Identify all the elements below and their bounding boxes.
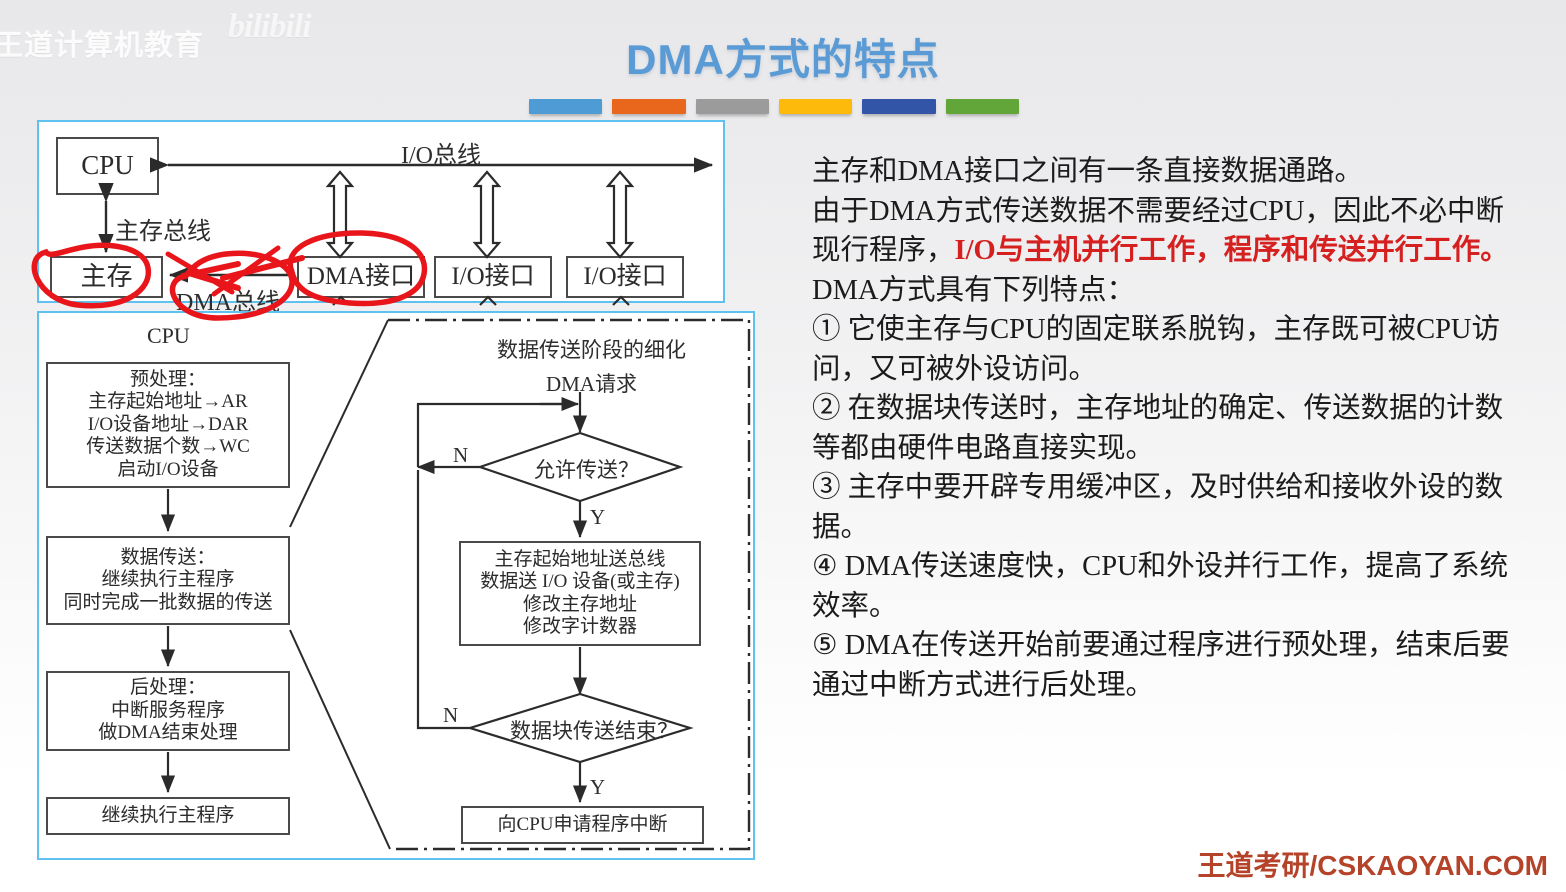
flow-box-preprocess-line4: 传送数据个数→WC <box>86 436 250 458</box>
detail-box-interrupt-label: 向CPU申请程序中断 <box>498 814 668 836</box>
colorbar-segment-5 <box>862 99 935 114</box>
flow-box-preprocess: 预处理： 主存起始地址→AR I/O设备地址→DAR 传送数据个数→WC 启动I… <box>46 362 290 488</box>
flow-box-transfer-line3: 同时完成一批数据的传送 <box>63 592 272 614</box>
flow-box-transfer: 数据传送： 继续执行主程序 同时完成一批数据的传送 <box>46 536 290 625</box>
box-io-interface-1-label: I/O接口 <box>451 262 534 292</box>
flow-box-postprocess-line2: 中断服务程序 <box>111 700 225 722</box>
label-decision2-text: 数据块传送结束？ <box>510 715 678 745</box>
box-io-interface-2-label: I/O接口 <box>583 262 666 292</box>
label-io-bus: I/O总线 <box>401 135 481 170</box>
detail-box-process-line1: 主存起始地址送总线 <box>494 549 665 571</box>
colorbar-segment-6 <box>946 99 1019 114</box>
paragraph-2: 由于DMA方式传送数据不需要经过CPU，因此不必中断现行程序，I/O与主机并行工… <box>812 192 1518 271</box>
list-item-5: ⑤ DMA在传送开始前要通过程序进行预处理，结束后要通过中断方式进行后处理。 <box>812 626 1518 705</box>
list-item-1: ① 它使主存与CPU的固定联系脱钩，主存既可被CPU访问，又可被外设访问。 <box>812 310 1518 389</box>
flow-box-preprocess-line3: I/O设备地址→DAR <box>88 414 248 436</box>
label-decision1-yes: Y <box>590 505 605 530</box>
flow-box-transfer-line1: 数据传送： <box>120 547 215 569</box>
box-main-memory: 主存 <box>50 256 163 298</box>
flow-box-preprocess-line2: 主存起始地址→AR <box>88 391 247 413</box>
flow-box-preprocess-line5: 启动I/O设备 <box>117 459 218 481</box>
colorbar-segment-3 <box>696 99 769 114</box>
paragraph-1: 主存和DMA接口之间有一条直接数据通路。 <box>812 152 1518 192</box>
box-main-memory-label: 主存 <box>80 262 132 293</box>
label-decision1-no: N <box>453 443 468 468</box>
flow-box-continue-main-label: 继续执行主程序 <box>101 805 234 827</box>
flow-box-continue-main: 继续执行主程序 <box>46 797 290 835</box>
label-memory-bus: 主存总线 <box>115 211 211 246</box>
label-decision2-yes: Y <box>590 775 605 800</box>
label-flow-cpu: CPU <box>147 323 190 349</box>
list-item-2: ② 在数据块传送时，主存地址的确定、传送数据的计数等都由硬件电路直接实现。 <box>812 389 1518 468</box>
detail-box-process-line3: 修改主存地址 <box>523 594 637 616</box>
paragraph-2-highlight: I/O与主机并行工作，程序和传送并行工作 <box>955 235 1481 266</box>
flow-box-preprocess-line1: 预处理： <box>130 369 206 391</box>
detail-box-process-line4: 修改字计数器 <box>523 616 637 638</box>
box-dma-interface-label: DMA接口 <box>307 262 415 292</box>
box-cpu: CPU <box>56 137 159 195</box>
label-dma-request: DMA请求 <box>546 368 637 398</box>
page-title: DMA方式的特点 <box>0 26 1566 87</box>
box-dma-interface: DMA接口 <box>297 256 425 298</box>
flow-box-postprocess: 后处理： 中断服务程序 做DMA结束处理 <box>46 671 290 751</box>
slide: 王道计算机教育 bilibili DMA方式的特点 CPU 主存 DMA接口 I… <box>0 0 1566 892</box>
label-decision2-no: N <box>443 703 458 728</box>
detail-box-process-line2: 数据送 I/O 设备(或主存) <box>480 571 679 593</box>
label-detail-title: 数据传送阶段的细化 <box>497 334 686 364</box>
colorbar-segment-4 <box>779 99 852 114</box>
paragraph-3: DMA方式具有下列特点： <box>812 271 1518 311</box>
footer-brand: 王道考研/CSKAOYAN.COM <box>1197 844 1548 884</box>
label-decision1-text: 允许传送？ <box>534 454 639 484</box>
colorbar-segment-1 <box>529 99 602 114</box>
flow-box-transfer-line2: 继续执行主程序 <box>101 569 234 591</box>
box-cpu-label: CPU <box>81 150 134 182</box>
flow-box-postprocess-line3: 做DMA结束处理 <box>98 722 237 744</box>
content-text-block: 主存和DMA接口之间有一条直接数据通路。 由于DMA方式传送数据不需要经过CPU… <box>812 152 1518 705</box>
colorbar-segment-2 <box>612 99 685 114</box>
accent-colorbar <box>529 99 1019 114</box>
detail-box-process: 主存起始地址送总线 数据送 I/O 设备(或主存) 修改主存地址 修改字计数器 <box>459 541 701 646</box>
box-io-interface-2: I/O接口 <box>566 256 684 298</box>
list-item-4: ④ DMA传送速度快，CPU和外设并行工作，提高了系统效率。 <box>812 547 1518 626</box>
flow-box-postprocess-line1: 后处理： <box>130 677 206 699</box>
box-io-interface-1: I/O接口 <box>434 256 552 298</box>
list-item-3: ③ 主存中要开辟专用缓冲区，及时供给和接收外设的数据。 <box>812 468 1518 547</box>
paragraph-2-period: 。 <box>1480 235 1509 266</box>
detail-box-interrupt: 向CPU申请程序中断 <box>461 806 704 844</box>
